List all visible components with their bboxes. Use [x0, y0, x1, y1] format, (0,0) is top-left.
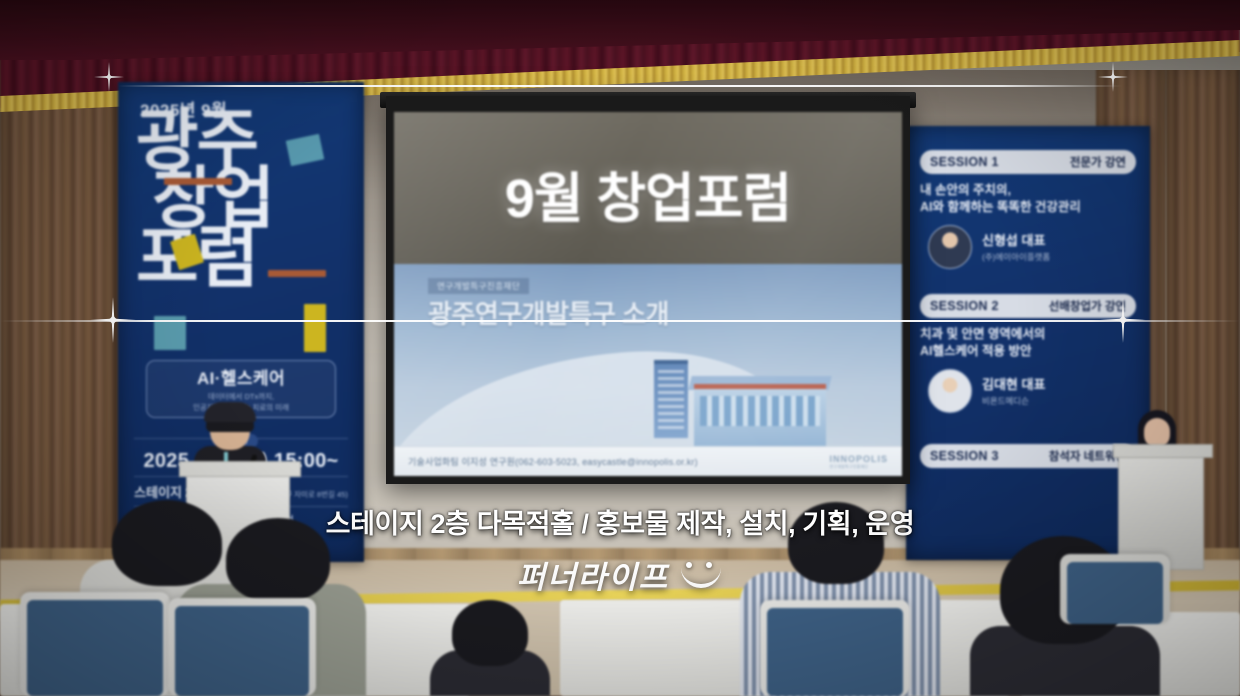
session-title-1: 내 손안의 주치의, AI와 함께하는 똑똑한 건강관리 — [920, 182, 1136, 216]
innopolis-logo-sub: 연구개발특구진흥재단 — [829, 464, 888, 470]
decorative-line-middle — [0, 320, 1240, 322]
speaker-org: (주)에이아이플랫폼 — [982, 251, 1050, 263]
session-title-line2: AI헬스케어 적용 방안 — [920, 343, 1136, 360]
session-speaker-2: 김대현 대표 비욘드메디슨 — [920, 369, 1136, 413]
chair-1-back — [27, 600, 163, 696]
banner-accent-brown-1 — [164, 178, 232, 185]
slide-content: 연구개발특구진흥재단 광주연구개발특구 소개 기술사업화팀 이지성 연구원(06… — [394, 264, 902, 476]
screenshot-canvas: 2025년 9월 광주 창업 포럼 AI·헬스케어 데이터에서 DTx까지, 인… — [0, 0, 1240, 696]
banner-title-line3: 포럼 — [128, 229, 354, 287]
sparkle-icon-mid-left — [90, 297, 136, 343]
smiley-face-icon — [679, 560, 723, 590]
smiley-mouth — [681, 566, 721, 588]
session-header-3: SESSION 3 참석자 네트워킹 — [920, 444, 1136, 468]
speaker-avatar — [928, 225, 972, 269]
speaker-avatar — [928, 369, 972, 413]
session-number: SESSION 3 — [930, 449, 999, 463]
session-title-line1: 내 손안의 주치의, — [920, 182, 1136, 199]
projector-screen: 9월 창업포럼 연구개발특구진흥재단 광주연구개발특구 소개 기술사업화팀 이지… — [394, 112, 902, 476]
audience-3-head — [452, 600, 528, 666]
session-kind: 전문가 강연 — [1070, 154, 1126, 170]
chair-4 — [760, 600, 910, 696]
banner-accent-brown-2 — [268, 270, 326, 277]
building-red-band — [694, 384, 826, 389]
session-block-1: SESSION 1 전문가 강연 내 손안의 주치의, AI와 함께하는 똑똑한… — [920, 150, 1136, 269]
sparkle-icon-top-left — [94, 62, 124, 92]
brand-logo-text: 퍼너라이프 — [517, 552, 670, 597]
chair-2 — [168, 598, 316, 696]
brand-logo: 퍼너라이프 — [0, 552, 1240, 597]
banner-accent-yellow-2 — [304, 304, 326, 352]
innopolis-logo: INNOPOLIS 연구개발특구진흥재단 — [829, 454, 888, 470]
session-speaker-1: 신형섭 대표 (주)에이아이플랫폼 — [920, 225, 1136, 269]
slide-footer: 기술사업화팀 이지성 연구원(062-603-5023, easycastle@… — [394, 446, 902, 476]
innopolis-logo-text: INNOPOLIS — [829, 454, 888, 464]
speaker-name: 김대현 대표 — [982, 374, 1045, 393]
chair-1 — [20, 592, 170, 696]
slide-contact-text: 기술사업화팀 이지성 연구원(062-603-5023, easycastle@… — [408, 455, 698, 468]
session-block-3: SESSION 3 참석자 네트워킹 — [920, 444, 1136, 468]
speaker-left-cap — [204, 402, 256, 422]
building-windows-graphic — [700, 396, 820, 426]
forum-main-title: 9월 창업포럼 — [394, 154, 902, 233]
building-tower-graphic — [654, 360, 688, 438]
video-caption: 스테이지 2층 다목적홀 / 홍보물 제작, 설치, 기획, 운영 — [0, 502, 1240, 541]
speaker-name: 신형섭 대표 — [982, 230, 1050, 249]
session-title-line2: AI와 함께하는 똑똑한 건강관리 — [920, 199, 1136, 216]
banner-topic-title: AI·헬스케어 — [197, 364, 285, 389]
session-number: SESSION 2 — [930, 299, 999, 313]
speaker-org: 비욘드메디슨 — [982, 395, 1045, 407]
sparkle-icon-top-right — [1098, 62, 1128, 92]
chair-4-back — [767, 608, 903, 696]
session-number: SESSION 1 — [930, 155, 999, 169]
slide-heading: 광주연구개발특구 소개 — [428, 294, 669, 331]
sparkle-icon-mid-right — [1100, 297, 1146, 343]
decorative-line-top — [118, 85, 1122, 87]
slide-org-badge: 연구개발특구진흥재단 — [428, 278, 529, 294]
session-header-1: SESSION 1 전문가 강연 — [920, 150, 1136, 174]
chair-2-back — [175, 606, 309, 696]
audience-member-3 — [430, 596, 550, 696]
event-banner-right: SESSION 1 전문가 강연 내 손안의 주치의, AI와 함께하는 똑똑한… — [906, 126, 1150, 560]
